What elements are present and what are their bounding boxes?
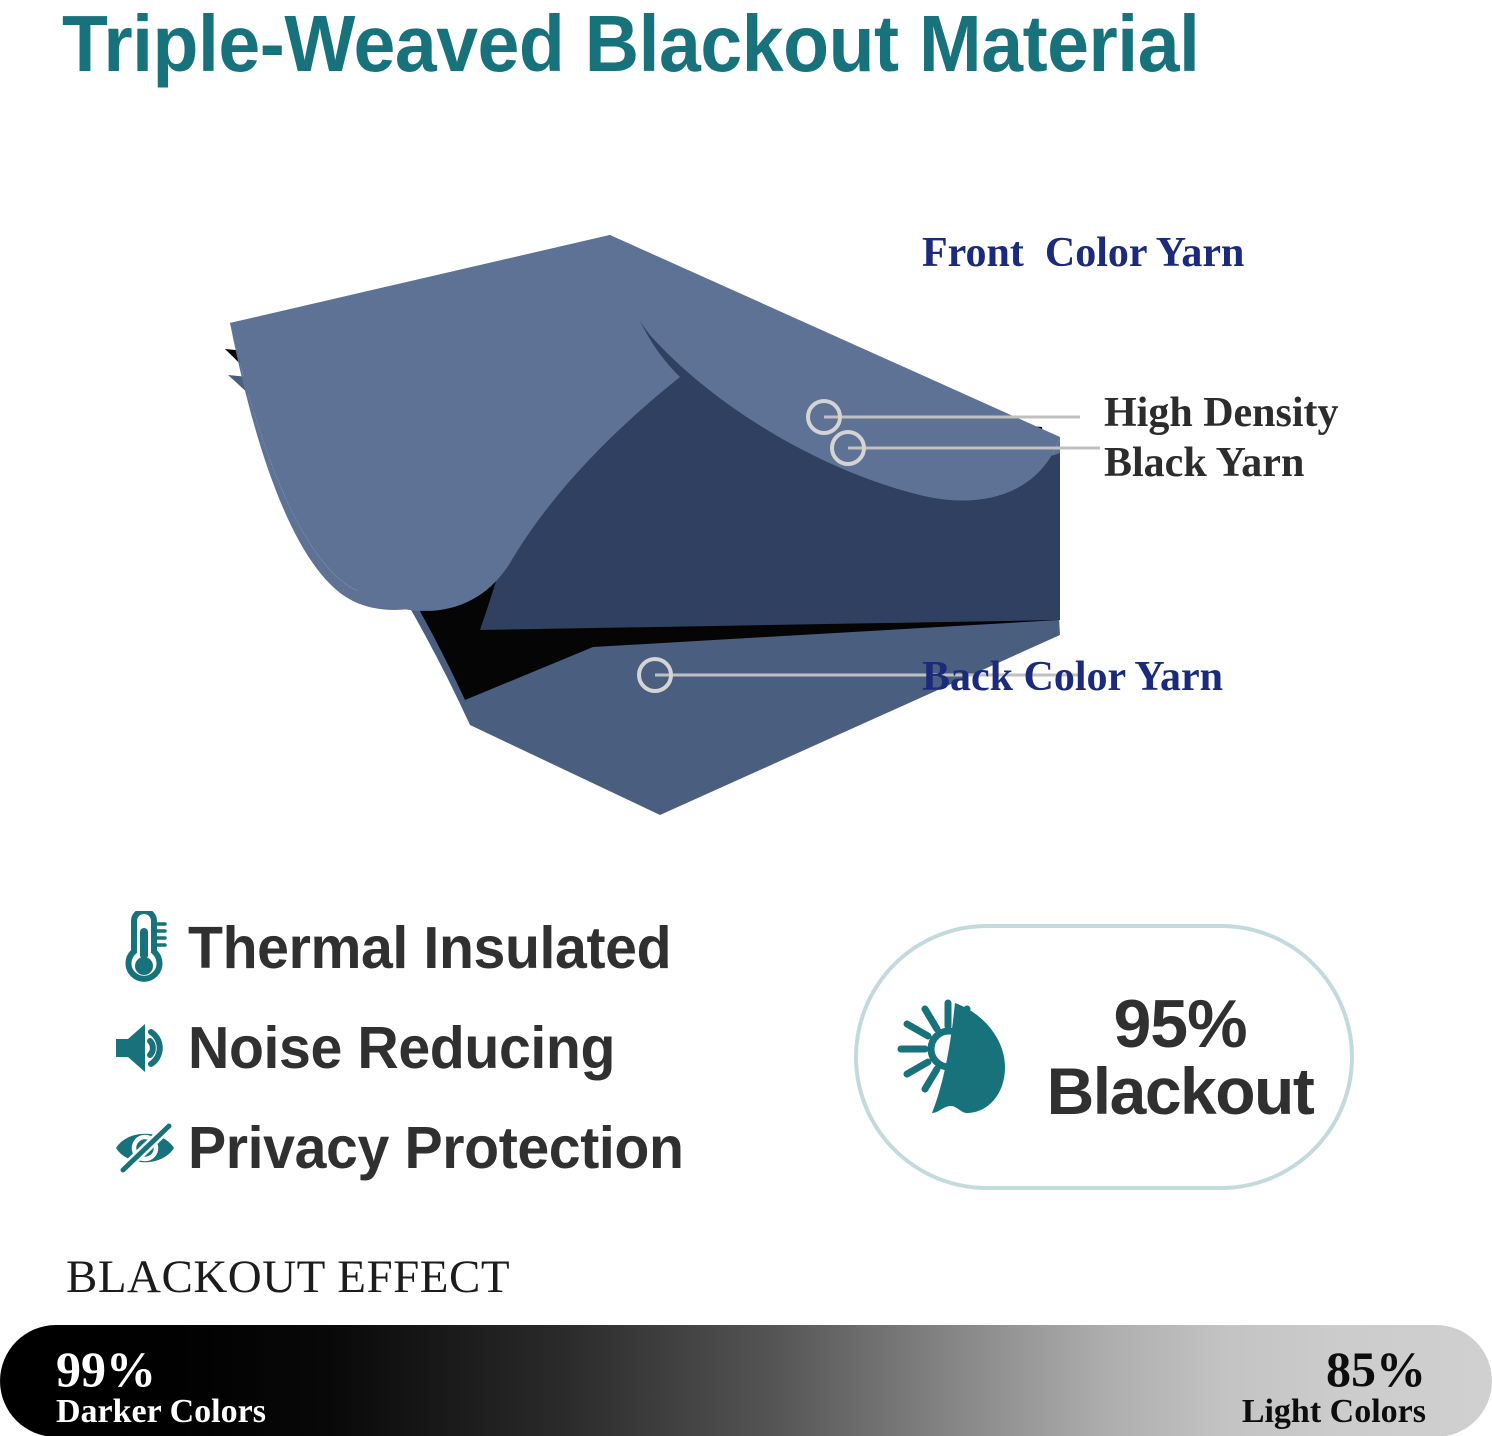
feature-row-privacy-protection: Privacy Protection bbox=[112, 1098, 792, 1198]
callout-label-high-density-black-yarn: High Density Black Yarn bbox=[1104, 389, 1339, 488]
stat-label: Light Colors bbox=[1242, 1395, 1426, 1430]
feature-label: Privacy Protection bbox=[188, 1114, 684, 1182]
callout-label-back-color-yarn: Back Color Yarn bbox=[922, 652, 1223, 703]
stat-percent: 85% bbox=[1242, 1344, 1426, 1395]
sun-blocked-curtain-icon bbox=[895, 991, 1021, 1123]
feature-label: Thermal Insulated bbox=[188, 914, 671, 982]
feature-list: Thermal Insulated Noise Reducing bbox=[112, 898, 792, 1198]
blackout-word: Blackout bbox=[1047, 1058, 1314, 1124]
blackout-percent: 95% bbox=[1047, 990, 1314, 1058]
blackout-stat-darker-colors: 99% Darker Colors bbox=[56, 1344, 266, 1430]
page-title: Triple-Weaved Blackout Material bbox=[62, 0, 1378, 92]
eye-slash-icon bbox=[112, 1122, 188, 1174]
feature-label: Noise Reducing bbox=[188, 1014, 615, 1082]
feature-row-thermal-insulated: Thermal Insulated bbox=[112, 898, 792, 998]
infographic-page: Triple-Weaved Blackout Material bbox=[0, 0, 1492, 1436]
blackout-effect-heading: BLACKOUT EFFECT bbox=[66, 1250, 510, 1304]
speaker-sound-icon bbox=[112, 1018, 188, 1078]
feature-row-noise-reducing: Noise Reducing bbox=[112, 998, 792, 1098]
blackout-stat-light-colors: 85% Light Colors bbox=[1242, 1344, 1426, 1430]
blackout-badge-text: 95% Blackout bbox=[1047, 990, 1314, 1124]
stat-percent: 99% bbox=[56, 1344, 266, 1395]
blackout-badge: 95% Blackout bbox=[854, 924, 1354, 1190]
stat-label: Darker Colors bbox=[56, 1395, 266, 1430]
callout-label-front-color-yarn: Front Color Yarn bbox=[922, 228, 1244, 279]
thermometer-icon bbox=[112, 911, 188, 985]
layer-front-color-yarn bbox=[230, 235, 1060, 630]
